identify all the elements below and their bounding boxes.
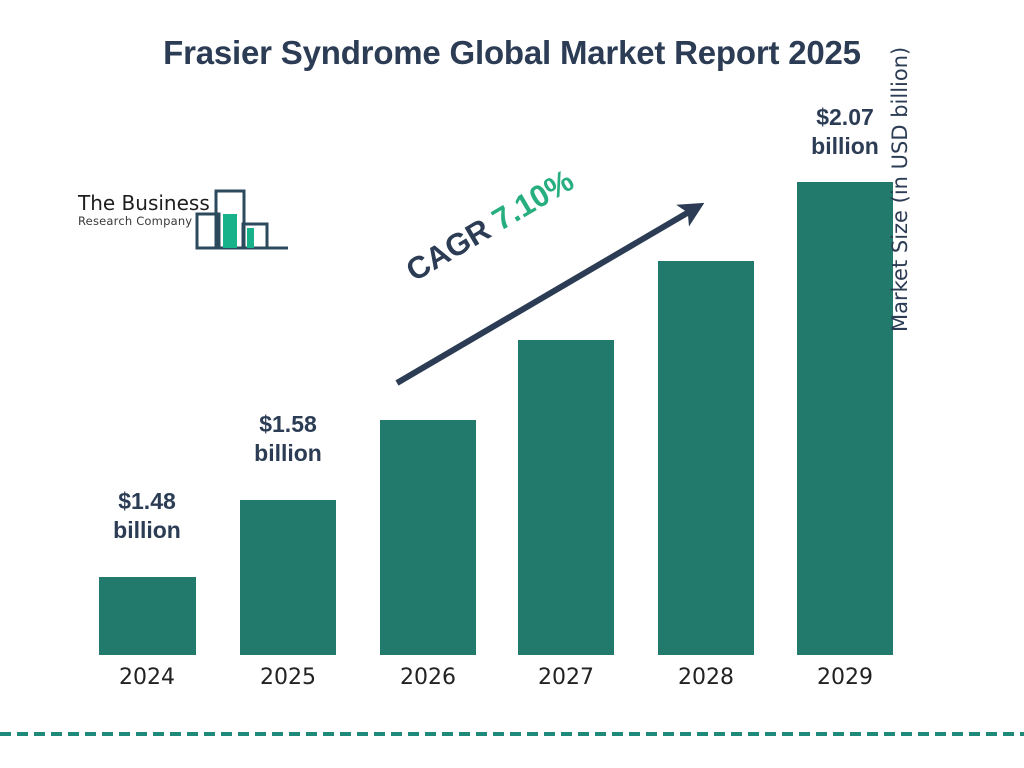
x-tick-2027: 2027 [506, 665, 626, 690]
x-tick-2026: 2026 [368, 665, 488, 690]
bar-value-2024-amount: $1.48 [77, 487, 217, 516]
footer-divider [0, 732, 1024, 736]
bar-value-2024: $1.48 billion [77, 487, 217, 545]
bar-value-2025: $1.58 billion [218, 410, 358, 468]
x-tick-2024: 2024 [87, 665, 207, 690]
x-tick-2025: 2025 [228, 665, 348, 690]
x-tick-2029: 2029 [785, 665, 905, 690]
bar-2027 [518, 340, 614, 655]
bar-2029 [797, 182, 893, 655]
bar-chart-plot: $1.48 billion $1.58 billion $2.07 billio… [0, 0, 1024, 768]
chart-page: Frasier Syndrome Global Market Report 20… [0, 0, 1024, 768]
bar-2026 [380, 420, 476, 655]
bar-2028 [658, 261, 754, 655]
x-tick-2028: 2028 [646, 665, 766, 690]
y-axis-title: Market Size (in USD billion) [888, 12, 912, 332]
bar-value-2024-unit: billion [77, 516, 217, 545]
bar-value-2025-amount: $1.58 [218, 410, 358, 439]
bar-2024 [99, 577, 196, 655]
bar-value-2025-unit: billion [218, 439, 358, 468]
bar-2025 [240, 500, 336, 655]
